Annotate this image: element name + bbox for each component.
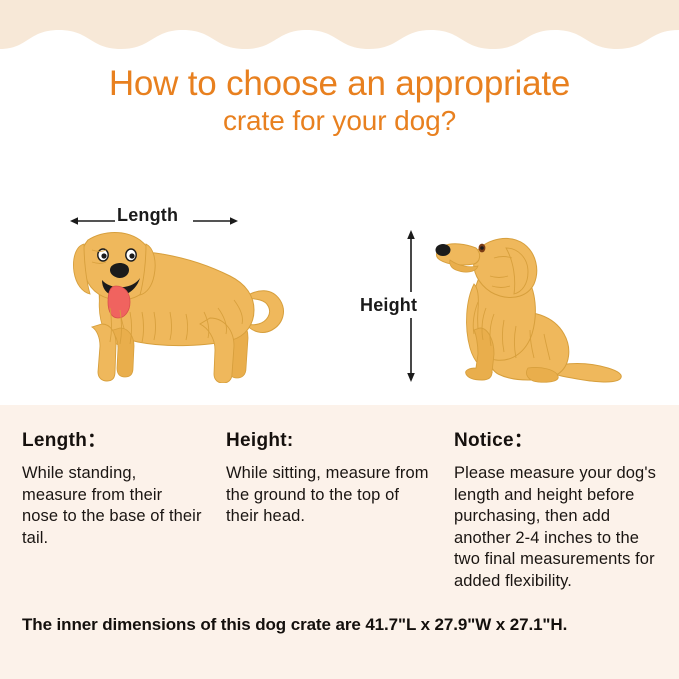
sitting-dog-illustration — [432, 222, 632, 390]
info-column-height: Height: While sitting, measure from the … — [216, 429, 444, 592]
info-column-notice-body: Please measure your dog's length and hei… — [454, 463, 663, 592]
info-column-length: Length： While standing, measure from the… — [0, 429, 216, 592]
info-column-length-heading: Length： — [22, 429, 202, 453]
scalloped-edge-shape — [0, 0, 679, 52]
length-label: Length — [117, 204, 178, 226]
lower-info-panel: Length： While standing, measure from the… — [0, 405, 679, 679]
height-measure-group: Height — [360, 230, 430, 390]
page-title-line-1: How to choose an appropriate — [0, 64, 679, 104]
info-column-height-body: While sitting, measure from the ground t… — [226, 463, 430, 528]
infographic-page: How to choose an appropriate crate for y… — [0, 0, 679, 679]
info-column-length-body: While standing, measure from their nose … — [22, 463, 202, 549]
info-column-notice: Notice： Please measure your dog's length… — [444, 429, 679, 592]
page-title-line-2: crate for your dog? — [0, 104, 679, 138]
standing-dog-illustration — [58, 228, 288, 383]
info-columns: Length： While standing, measure from the… — [0, 429, 679, 592]
crate-dimensions-footer: The inner dimensions of this dog crate a… — [22, 614, 672, 636]
top-scalloped-band — [0, 0, 679, 52]
page-title: How to choose an appropriate crate for y… — [0, 64, 679, 138]
info-column-height-heading: Height: — [226, 429, 430, 453]
length-measure-group: Length — [70, 204, 240, 230]
height-label: Height — [359, 292, 418, 318]
length-arrow-right-icon — [192, 215, 238, 227]
info-column-notice-heading: Notice： — [454, 429, 663, 453]
length-arrow-left-icon — [70, 215, 116, 227]
illustration-area: Length — [0, 190, 679, 405]
